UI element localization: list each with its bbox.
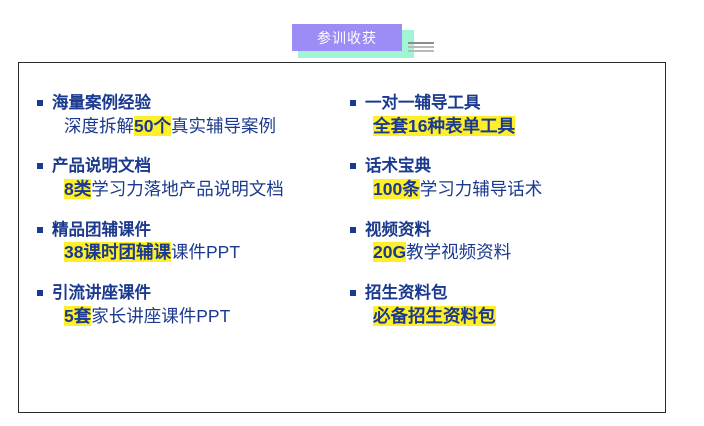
benefit-detail-line: 必备招生资料包 [350, 305, 665, 328]
benefits-columns: 海量案例经验深度拆解50个真实辅导案例产品说明文档8类学习力落地产品说明文档精品… [19, 63, 665, 412]
benefit-detail-line: 20G教学视频资料 [350, 241, 665, 264]
benefit-heading-label: 视频资料 [365, 220, 431, 241]
benefit-heading-label: 一对一辅导工具 [365, 93, 481, 114]
benefit-heading-row: 产品说明文档 [37, 156, 342, 177]
benefit-heading-row: 一对一辅导工具 [350, 93, 665, 114]
section-title-label: 参训收获 [317, 31, 377, 45]
benefit-heading-label: 海量案例经验 [52, 93, 151, 114]
benefit-heading-label: 精品团辅课件 [52, 220, 151, 241]
benefit-detail-text: 深度拆解 [64, 116, 134, 136]
square-bullet-icon [350, 290, 356, 296]
benefit-detail-line: 深度拆解50个真实辅导案例 [37, 115, 342, 138]
square-bullet-icon [37, 227, 43, 233]
square-bullet-icon [350, 100, 356, 106]
header-badge-group: 参训收获 [292, 24, 416, 58]
benefit-detail-highlight: 100条 [373, 179, 420, 199]
benefit-heading-label: 产品说明文档 [52, 156, 151, 177]
square-bullet-icon [37, 100, 43, 106]
benefit-item: 话术宝典100条学习力辅导话术 [350, 156, 665, 200]
benefit-heading-row: 海量案例经验 [37, 93, 342, 114]
square-bullet-icon [350, 227, 356, 233]
section-title-badge: 参训收获 [292, 24, 402, 51]
square-bullet-icon [37, 163, 43, 169]
benefit-heading-label: 话术宝典 [365, 156, 431, 177]
benefit-detail-line: 全套16种表单工具 [350, 115, 665, 138]
square-bullet-icon [37, 290, 43, 296]
benefit-detail-text: 家长讲座课件PPT [91, 306, 230, 326]
benefit-item: 招生资料包必备招生资料包 [350, 283, 665, 327]
benefit-heading-row: 精品团辅课件 [37, 220, 342, 241]
benefit-detail-highlight: 全套16种表单工具 [373, 116, 515, 136]
benefit-item: 引流讲座课件5套家长讲座课件PPT [37, 283, 342, 327]
benefit-detail-text: 学习力落地产品说明文档 [91, 179, 284, 199]
benefit-item: 海量案例经验深度拆解50个真实辅导案例 [37, 93, 342, 137]
benefit-heading-row: 招生资料包 [350, 283, 665, 304]
benefit-detail-line: 100条学习力辅导话术 [350, 178, 665, 201]
benefit-heading-row: 引流讲座课件 [37, 283, 342, 304]
benefit-detail-highlight: 5套 [64, 306, 91, 326]
benefit-heading-label: 引流讲座课件 [52, 283, 151, 304]
benefit-detail-highlight: 必备招生资料包 [373, 306, 496, 326]
benefit-heading-row: 话术宝典 [350, 156, 665, 177]
benefits-panel: 海量案例经验深度拆解50个真实辅导案例产品说明文档8类学习力落地产品说明文档精品… [18, 62, 666, 413]
benefit-detail-text: 真实辅导案例 [171, 116, 276, 136]
benefit-detail-highlight: 8类 [64, 179, 91, 199]
benefit-item: 一对一辅导工具全套16种表单工具 [350, 93, 665, 137]
benefit-item: 精品团辅课件38课时团辅课课件PPT [37, 220, 342, 264]
benefit-heading-row: 视频资料 [350, 220, 665, 241]
benefit-detail-line: 8类学习力落地产品说明文档 [37, 178, 342, 201]
benefit-detail-line: 5套家长讲座课件PPT [37, 305, 342, 328]
benefit-item: 产品说明文档8类学习力落地产品说明文档 [37, 156, 342, 200]
square-bullet-icon [350, 163, 356, 169]
benefit-heading-label: 招生资料包 [365, 283, 448, 304]
benefit-detail-highlight: 20G [373, 242, 406, 262]
benefit-detail-text: 课件PPT [171, 242, 240, 262]
benefit-detail-text: 学习力辅导话术 [420, 179, 543, 199]
benefits-column-left: 海量案例经验深度拆解50个真实辅导案例产品说明文档8类学习力落地产品说明文档精品… [19, 93, 342, 412]
decoration-lines-icon [408, 42, 434, 52]
benefits-column-right: 一对一辅导工具全套16种表单工具话术宝典100条学习力辅导话术视频资料20G教学… [342, 93, 665, 412]
benefit-detail-highlight: 38课时团辅课 [64, 242, 171, 262]
benefit-item: 视频资料20G教学视频资料 [350, 220, 665, 264]
benefit-detail-text: 教学视频资料 [406, 242, 511, 262]
benefit-detail-highlight: 50个 [134, 116, 171, 136]
benefit-detail-line: 38课时团辅课课件PPT [37, 241, 342, 264]
